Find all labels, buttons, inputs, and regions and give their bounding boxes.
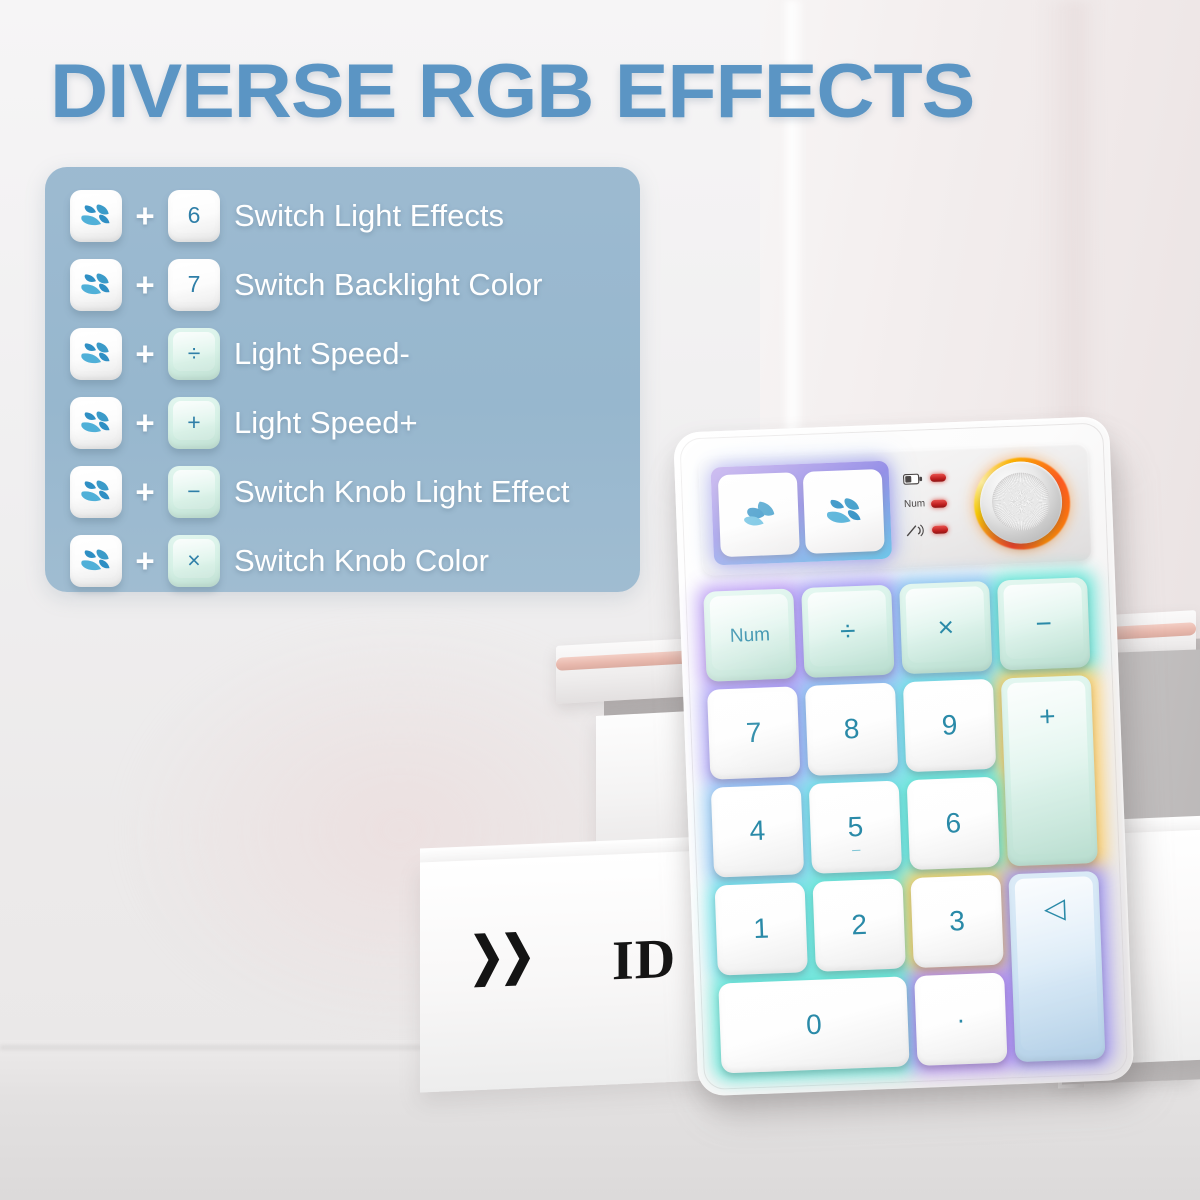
numpad-key-2[interactable]: 2 [812, 878, 905, 971]
battery-icon [903, 471, 926, 486]
shortcut-row: ++Light Speed+ [45, 388, 640, 457]
key-legend-glyph: 0 [806, 1011, 823, 1040]
product-marketing-image: G ❯❯ ID DIVERSE RGB EFFECTS +6Switch Lig… [0, 0, 1200, 1200]
page-title: DIVERSE RGB EFFECTS [50, 54, 1195, 130]
combo-plus-symbol: + [122, 199, 168, 232]
combo-plus-symbol: + [122, 544, 168, 577]
logo-keys-rgb-well [710, 461, 892, 566]
key-legend-glyph: 4 [749, 817, 766, 846]
shortcut-row: +×Switch Knob Color [45, 526, 640, 595]
fn-logo-icon [79, 547, 113, 574]
numpad-key-0[interactable]: 0 [718, 976, 909, 1073]
fn-logo-icon [79, 409, 113, 436]
device-top-plate: Num [698, 443, 1092, 576]
key-legend-glyph: 7 [745, 719, 762, 748]
combo-plus-symbol: + [122, 406, 168, 439]
legend-key-glyph: − [187, 480, 200, 503]
shortcut-row-list: +6Switch Light Effects+7Switch Backlight… [45, 167, 640, 595]
logo-key-right[interactable] [803, 469, 885, 554]
fn-logo-icon [79, 547, 113, 575]
shortcut-description: Light Speed+ [234, 407, 418, 438]
legend-shortcut-key: 7 [168, 259, 220, 311]
key-legend-glyph: − [1035, 609, 1052, 638]
key-legend-glyph: 1 [753, 915, 770, 944]
legend-fn-key [70, 190, 122, 242]
fn-logo-icon [79, 202, 113, 229]
legend-fn-key [70, 535, 122, 587]
indicator-battery [903, 464, 968, 492]
knob-textured-face [991, 471, 1051, 531]
key-legend-glyph: 8 [843, 715, 860, 744]
key-legend-glyph: 6 [945, 809, 962, 838]
legend-key-glyph: 7 [188, 273, 201, 296]
numpad-key-3[interactable]: 3 [910, 875, 1003, 968]
wireless-icon [905, 523, 928, 538]
fn-logo-icon [79, 478, 113, 505]
indicator-numlock: Num [904, 490, 969, 518]
fn-logo-icon [79, 409, 113, 437]
fn-logo-icon [79, 340, 113, 367]
key-legend-glyph: 2 [851, 911, 868, 940]
numpad-key-grid: Num÷×−789+45–6123◁0· [703, 577, 1111, 1068]
legend-shortcut-key: ÷ [168, 328, 220, 380]
legend-shortcut-key: 6 [168, 190, 220, 242]
shortcut-description: Switch Backlight Color [234, 269, 542, 300]
legend-shortcut-key: + [168, 397, 220, 449]
key-legend-glyph: ÷ [840, 617, 856, 646]
numpad-key-[interactable]: ÷ [801, 585, 894, 678]
key-legend-glyph: + [1002, 701, 1093, 732]
status-indicator-column: Num [903, 464, 970, 544]
numpad-key-[interactable]: − [997, 577, 1090, 670]
battery-led [930, 473, 946, 482]
combo-plus-symbol: + [122, 268, 168, 301]
device-case: Num [673, 416, 1134, 1096]
sprout-bird-logo [823, 495, 864, 529]
shortcut-description: Switch Knob Color [234, 545, 489, 576]
legend-shortcut-key: − [168, 466, 220, 518]
numpad-key-Num[interactable]: Num [703, 588, 796, 681]
legend-key-glyph: + [187, 411, 200, 434]
numpad-key-7[interactable]: 7 [707, 686, 800, 779]
prop-box-word: ID [612, 927, 676, 994]
numpad-key-6[interactable]: 6 [907, 777, 1000, 870]
wireless-led [932, 525, 948, 534]
key-legend-glyph: 9 [941, 711, 958, 740]
fn-logo-icon [79, 478, 113, 506]
legend-key-glyph: 6 [188, 204, 201, 227]
shortcut-row: +÷Light Speed- [45, 319, 640, 388]
key-legend-glyph: · [956, 1006, 966, 1032]
fn-logo-icon [79, 340, 113, 368]
legend-fn-key [70, 328, 122, 380]
shortcut-description: Switch Light Effects [234, 200, 504, 231]
legend-fn-key [70, 259, 122, 311]
logo-key-left[interactable] [718, 472, 800, 557]
fn-logo-icon [79, 271, 113, 299]
shortcut-legend-panel: +6Switch Light Effects+7Switch Backlight… [45, 167, 640, 592]
prop-box-chevron-icon: ❯❯ [469, 929, 531, 984]
numlock-led [931, 499, 947, 508]
key-legend-glyph: × [937, 613, 954, 642]
legend-fn-key [70, 397, 122, 449]
shortcut-row: +−Switch Knob Light Effect [45, 457, 640, 526]
homing-marker: – [811, 839, 902, 859]
numpad-key-8[interactable]: 8 [805, 683, 898, 776]
legend-shortcut-key: × [168, 535, 220, 587]
legend-key-glyph: × [187, 549, 200, 572]
numpad-key-5[interactable]: 5– [809, 780, 902, 873]
numpad-key-1[interactable]: 1 [715, 882, 808, 975]
numpad-key-4[interactable]: 4 [711, 784, 804, 877]
shortcut-description: Switch Knob Light Effect [234, 476, 569, 507]
numlock-label: Num [904, 499, 926, 510]
key-legend-glyph: ◁ [1009, 893, 1100, 924]
numpad-key-9[interactable]: 9 [903, 679, 996, 772]
key-legend-glyph: 5 [847, 813, 864, 842]
shortcut-row: +6Switch Light Effects [45, 181, 640, 250]
key-legend-glyph: 3 [949, 907, 966, 936]
numpad-key-[interactable]: ◁ [1008, 871, 1105, 1062]
combo-plus-symbol: + [122, 475, 168, 508]
shortcut-description: Light Speed- [234, 338, 410, 369]
indicator-wireless [905, 516, 970, 544]
legend-fn-key [70, 466, 122, 518]
fn-logo-icon [79, 271, 113, 298]
numpad-key-[interactable]: × [899, 581, 992, 674]
combo-plus-symbol: + [122, 337, 168, 370]
numpad-key-[interactable]: + [1001, 675, 1098, 866]
numpad-key-[interactable]: · [914, 973, 1007, 1066]
numpad-keyboard-product: Num [673, 416, 1149, 1113]
rotary-volume-knob[interactable] [972, 456, 1074, 554]
legend-key-glyph: ÷ [188, 342, 201, 365]
leaf-cluster-logo [739, 498, 778, 531]
key-legend-glyph: Num [730, 625, 771, 646]
fn-logo-icon [79, 202, 113, 230]
shortcut-row: +7Switch Backlight Color [45, 250, 640, 319]
